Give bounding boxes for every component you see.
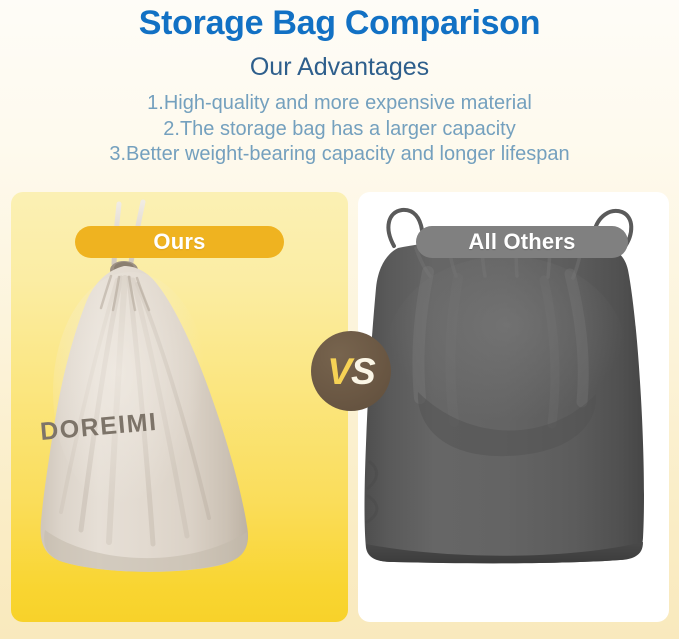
header: Storage Bag Comparison Our Advantages 1.… xyxy=(0,0,679,168)
advantage-item-2: 2.The storage bag has a larger capacity xyxy=(0,117,679,143)
badge-ours: Ours xyxy=(75,226,284,258)
page-subtitle: Our Advantages xyxy=(0,45,679,82)
panel-others: All Others xyxy=(358,192,669,622)
comparison-infographic: Storage Bag Comparison Our Advantages 1.… xyxy=(0,0,679,639)
vs-badge: VS xyxy=(311,331,391,411)
badge-all-others: All Others xyxy=(416,226,628,258)
advantage-item-1: 1.High-quality and more expensive materi… xyxy=(0,91,679,117)
panel-ours: DOREIMI Ours xyxy=(11,192,348,622)
advantage-item-3: 3.Better weight-bearing capacity and lon… xyxy=(0,142,679,168)
advantages-list: 1.High-quality and more expensive materi… xyxy=(0,82,679,168)
page-title: Storage Bag Comparison xyxy=(0,0,679,45)
vs-letter-s: S xyxy=(351,351,375,392)
vs-letter-v: V xyxy=(327,351,351,392)
